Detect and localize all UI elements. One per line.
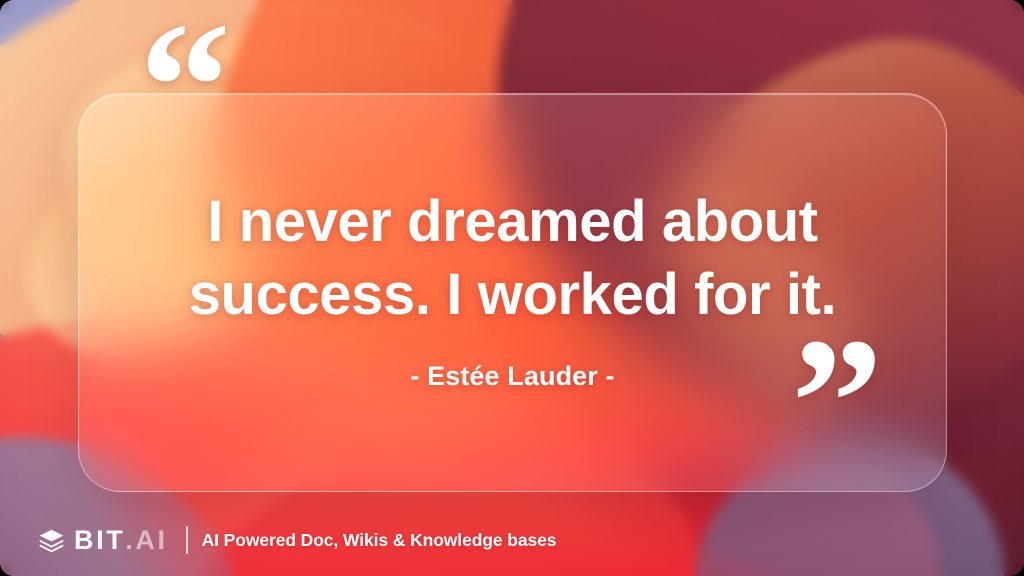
- quote-author: - Estée Lauder -: [410, 361, 614, 392]
- stacked-layers-icon: [38, 527, 65, 554]
- brand-word-secondary: .AI: [125, 527, 167, 554]
- footer-divider: [186, 526, 188, 554]
- brand-lockup[interactable]: BIT.AI: [38, 527, 168, 554]
- brand-wordmark: BIT.AI: [74, 527, 168, 554]
- brand-word-primary: BIT: [74, 527, 125, 554]
- quote-graphic-canvas: I never dreamed about success. I worked …: [0, 0, 1024, 576]
- quote-text: I never dreamed about success. I worked …: [163, 185, 863, 331]
- footer-brand-bar: BIT.AI AI Powered Doc, Wikis & Knowledge…: [38, 526, 556, 554]
- open-quote-icon: “: [139, 0, 231, 178]
- footer-tagline: AI Powered Doc, Wikis & Knowledge bases: [202, 530, 557, 551]
- close-quote-icon: ”: [791, 310, 883, 494]
